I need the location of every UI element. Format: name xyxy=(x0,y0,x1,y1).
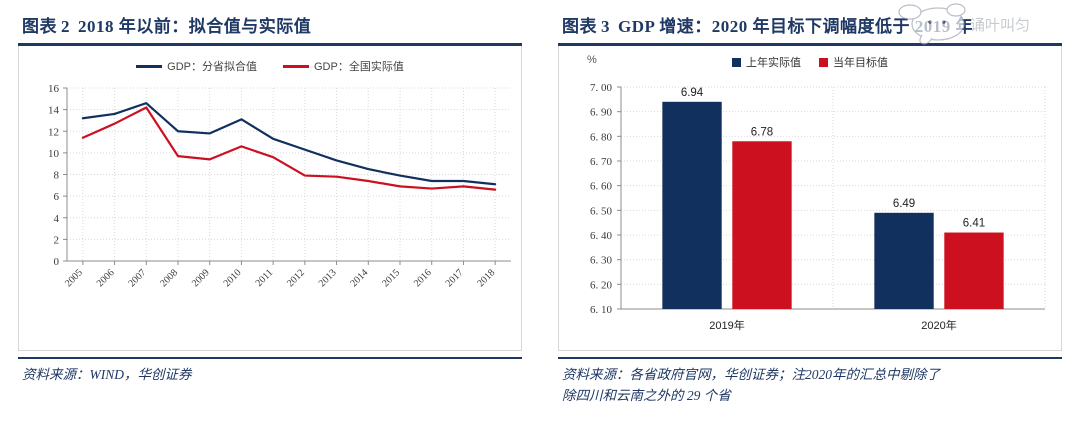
y-axis-tick-label: 7. 00 xyxy=(590,82,613,94)
x-axis-tick-label: 2013 xyxy=(317,267,339,289)
right-title-prefix: 图表 xyxy=(562,17,597,36)
figure-pair-page: 图表22018 年以前：拟合值与实际值 GDP：分省拟合值 GDP：全国实际值 … xyxy=(0,0,1080,422)
x-axis-tick-label: 2017 xyxy=(444,267,466,289)
legend-item-fitted: GDP：分省拟合值 xyxy=(136,58,257,74)
left-figure-panel: 图表22018 年以前：拟合值与实际值 GDP：分省拟合值 GDP：全国实际值 … xyxy=(0,0,540,422)
y-axis-tick-label: 16 xyxy=(48,83,60,95)
right-title-number: 3 xyxy=(601,17,610,36)
y-axis-tick-label: 6. 10 xyxy=(590,304,613,316)
legend-label-prev-actual: 上年实际值 xyxy=(746,54,801,70)
x-axis-tick-label: 2008 xyxy=(158,267,180,289)
x-axis-tick-label: 2005 xyxy=(63,267,85,289)
line-series-fitted xyxy=(83,103,495,184)
right-footnote-line1: 资料来源：各省政府官网，华创证券；注2020年的汇总中剔除了 xyxy=(562,365,1060,386)
x-axis-tick-label: 2018 xyxy=(475,267,497,289)
y-axis-tick-label: 14 xyxy=(48,105,60,117)
bar-value-label: 6.41 xyxy=(963,218,985,230)
y-axis-tick-label: 6. 70 xyxy=(590,156,613,168)
bar-value-label: 6.78 xyxy=(751,126,773,138)
legend-label-actual: GDP：全国实际值 xyxy=(314,58,404,74)
x-axis-tick-label: 2010 xyxy=(222,267,244,289)
y-axis-tick-label: 2 xyxy=(54,234,60,246)
y-axis-tick-label: 6 xyxy=(54,191,60,203)
legend-item-year-target: 当年目标值 xyxy=(819,54,888,70)
bar-prev-actual xyxy=(874,213,933,309)
x-axis-category-label: 2019年 xyxy=(709,318,744,332)
bar-year-target xyxy=(732,141,791,309)
legend-item-actual: GDP：全国实际值 xyxy=(283,58,404,74)
x-axis-tick-label: 2014 xyxy=(348,267,370,289)
y-axis-tick-label: 6. 30 xyxy=(590,255,613,267)
left-footnote: 资料来源：WIND，华创证券 xyxy=(18,359,522,386)
bar-prev-actual xyxy=(662,102,721,309)
y-axis-tick-label: 6. 90 xyxy=(590,107,613,119)
legend-line-navy-icon xyxy=(136,65,162,68)
line-series-actual xyxy=(83,107,495,189)
x-axis-tick-label: 2015 xyxy=(380,267,402,289)
y-axis-tick-label: 8 xyxy=(54,170,60,182)
x-axis-tick-label: 2007 xyxy=(126,267,148,289)
line-chart-svg: 0246810121416200520062007200820092010201… xyxy=(19,74,522,339)
left-chart-box: GDP：分省拟合值 GDP：全国实际值 02468101214162005200… xyxy=(18,46,522,351)
x-axis-category-label: 2020年 xyxy=(921,318,956,332)
right-footnote-line2: 除四川和云南之外的 29 个省 xyxy=(562,386,1060,407)
right-chart-box: % 上年实际值 当年目标值 6. 106. 206. 306. 406. 506… xyxy=(558,46,1062,351)
bar-value-label: 6.49 xyxy=(893,198,915,210)
right-figure-panel: 图表3GDP 增速：2020 年目标下调幅度低于 2019 年 % 上年实际值 … xyxy=(540,0,1080,422)
x-axis-tick-label: 2016 xyxy=(412,267,434,289)
legend-item-prev-actual: 上年实际值 xyxy=(732,54,801,70)
legend-label-year-target: 当年目标值 xyxy=(833,54,888,70)
left-title-text: 2018 年以前：拟合值与实际值 xyxy=(78,17,311,36)
y-axis-tick-label: 6. 20 xyxy=(590,279,613,291)
legend-line-red-icon xyxy=(283,65,309,68)
left-panel-title: 图表22018 年以前：拟合值与实际值 xyxy=(18,0,522,43)
bar-value-label: 6.94 xyxy=(681,87,704,99)
left-title-number: 2 xyxy=(61,17,70,36)
bar-chart-svg: 6. 106. 206. 306. 406. 506. 606. 706. 80… xyxy=(559,73,1062,351)
x-axis-tick-label: 2012 xyxy=(285,267,307,289)
y-axis-tick-label: 6. 40 xyxy=(590,230,613,242)
y-axis-tick-label: 6. 80 xyxy=(590,131,613,143)
x-axis-tick-label: 2011 xyxy=(254,267,276,289)
y-axis-tick-label: 10 xyxy=(48,148,60,160)
y-axis-tick-label: 12 xyxy=(48,126,59,138)
y-axis-tick-label: 6. 60 xyxy=(590,181,613,193)
legend-square-navy-icon xyxy=(732,58,741,67)
y-axis-tick-label: 0 xyxy=(54,256,60,268)
y-axis-tick-label: 4 xyxy=(54,213,60,225)
left-chart-legend: GDP：分省拟合值 GDP：全国实际值 xyxy=(19,46,521,74)
right-title-text: GDP 增速：2020 年目标下调幅度低于 2019 年 xyxy=(618,17,973,36)
legend-square-red-icon xyxy=(819,58,828,67)
left-title-prefix: 图表 xyxy=(22,17,57,36)
right-panel-title: 图表3GDP 增速：2020 年目标下调幅度低于 2019 年 xyxy=(558,0,1062,43)
x-axis-tick-label: 2009 xyxy=(190,267,212,289)
right-footnote: 资料来源：各省政府官网，华创证券；注2020年的汇总中剔除了 除四川和云南之外的… xyxy=(558,359,1062,407)
bar-year-target xyxy=(944,233,1003,309)
x-axis-tick-label: 2006 xyxy=(95,267,117,289)
y-axis-tick-label: 6. 50 xyxy=(590,205,613,217)
legend-label-fitted: GDP：分省拟合值 xyxy=(167,58,257,74)
right-chart-legend: 上年实际值 当年目标值 xyxy=(559,54,1061,70)
